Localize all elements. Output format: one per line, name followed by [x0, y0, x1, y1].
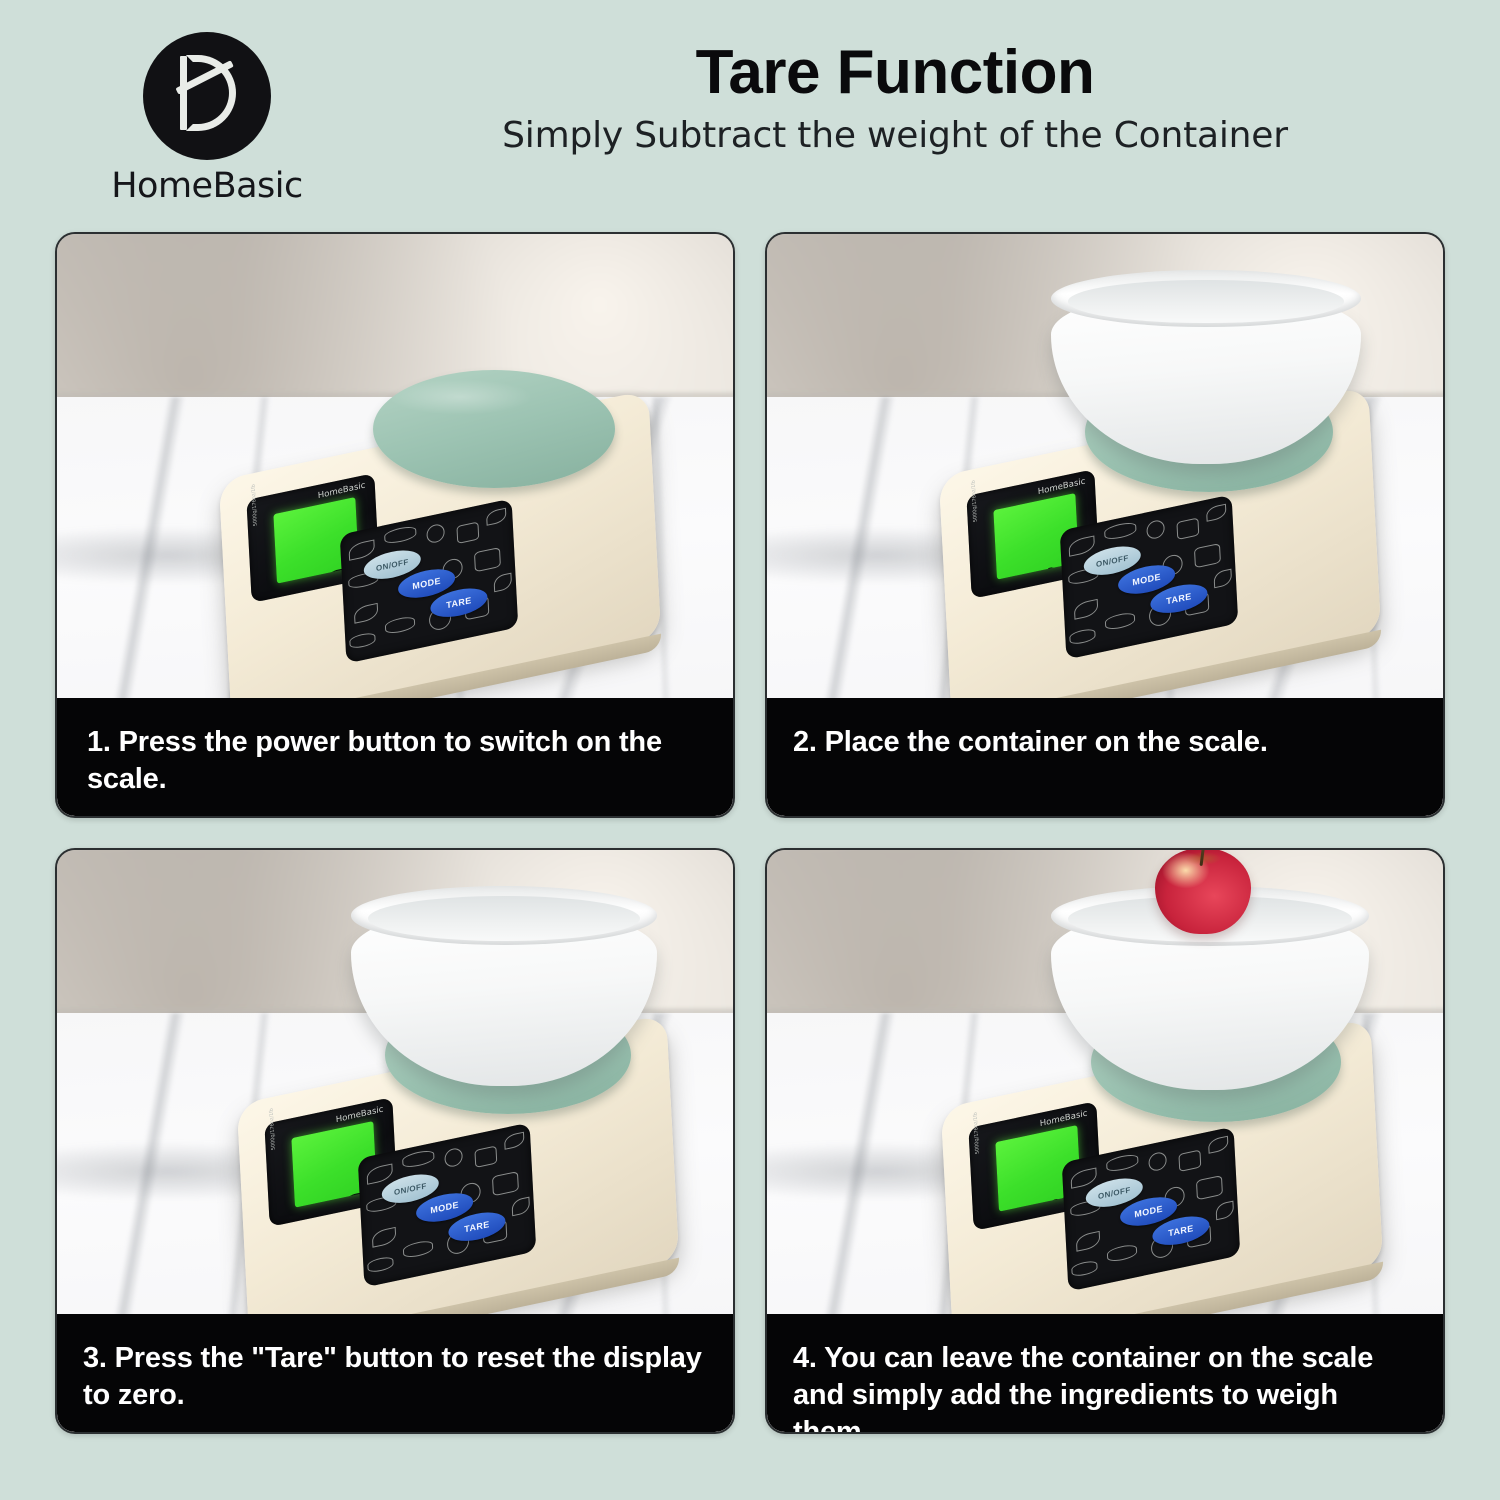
brand-name: HomeBasic [62, 166, 352, 206]
container-bowl-2 [1051, 270, 1361, 460]
lcd-fine-print-1: 5000g/176oz/1lb [252, 505, 261, 526]
kitchen-scale-1: HomeBasic 0 5000g/176oz/1lb [225, 434, 655, 684]
brand-lockup: HomeBasic [62, 32, 352, 206]
page-title: Tare Function [330, 40, 1460, 105]
step-card-4: HomeBasic 1073 5000g/176oz/1lb [765, 848, 1445, 1434]
lcd-fine-print-4: 5000g/176oz/1lb [974, 1133, 983, 1154]
page-subtitle: Simply Subtract the weight of the Contai… [330, 115, 1460, 156]
apple-ingredient [1155, 850, 1251, 934]
title-block: Tare Function Simply Subtract the weight… [330, 40, 1460, 156]
lcd-brand-label: HomeBasic [318, 480, 366, 501]
step-caption-4: 4. You can leave the container on the sc… [767, 1314, 1443, 1432]
step-caption-2: 2. Place the container on the scale. [767, 698, 1443, 816]
step-caption-text-3: 3. Press the "Tare" button to reset the … [83, 1340, 705, 1414]
header: HomeBasic Tare Function Simply Subtract … [0, 0, 1500, 215]
lcd-fine-print-2: 5000g/176oz/1lb [972, 501, 981, 522]
step-caption-1: 1. Press the power button to switch on t… [57, 698, 733, 816]
lcd-fine-print-3: 5000g/176oz/1lb [270, 1129, 279, 1150]
container-bowl-3 [351, 886, 657, 1082]
lcd-brand-label: HomeBasic [1040, 1108, 1088, 1129]
scale-platform-1 [373, 370, 615, 488]
step-caption-text-4: 4. You can leave the container on the sc… [793, 1340, 1415, 1434]
container-bowl-4 [1051, 886, 1369, 1086]
step-card-2: HomeBasic 127 5000g/176oz/1lb [765, 232, 1445, 818]
lcd-brand-label: HomeBasic [1038, 476, 1086, 497]
step-card-3: HomeBasic 0 5000g/176oz/1lb [55, 848, 735, 1434]
hb-monogram-icon [143, 32, 271, 160]
step-caption-text-2: 2. Place the container on the scale. [793, 724, 1415, 761]
step-caption-3: 3. Press the "Tare" button to reset the … [57, 1314, 733, 1432]
lcd-brand-label: HomeBasic [336, 1104, 384, 1125]
infographic-page: HomeBasic Tare Function Simply Subtract … [0, 0, 1500, 1500]
step-card-1: HomeBasic 0 5000g/176oz/1lb [55, 232, 735, 818]
kitchen-scale-4: HomeBasic 1073 5000g/176oz/1lb [947, 1062, 1377, 1312]
kitchen-scale-3: HomeBasic 0 5000g/176oz/1lb [243, 1058, 673, 1308]
steps-grid: HomeBasic 0 5000g/176oz/1lb [55, 232, 1445, 1470]
kitchen-scale-2: HomeBasic 127 5000g/176oz/1lb [945, 430, 1375, 680]
step-caption-text-1: 1. Press the power button to switch on t… [83, 724, 705, 798]
